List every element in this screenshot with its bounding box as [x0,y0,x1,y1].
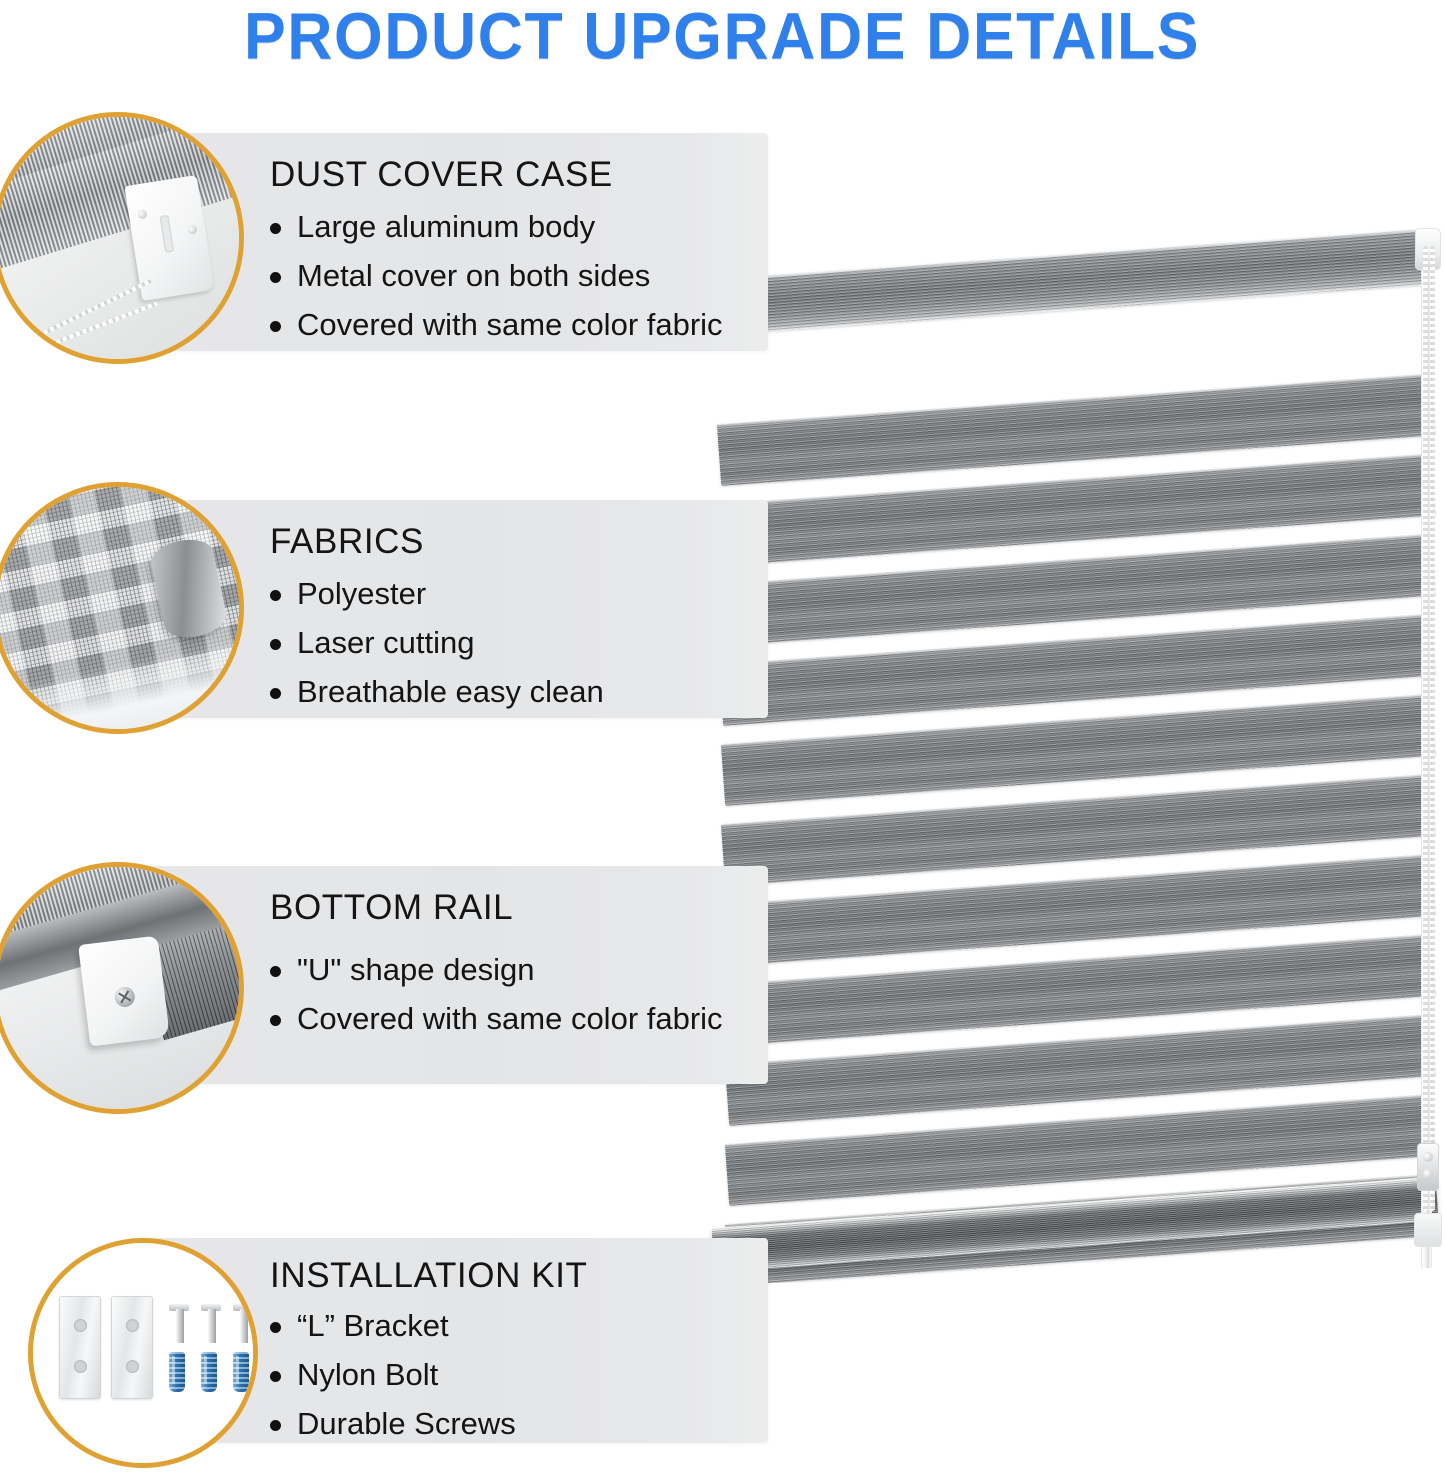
blind-headrail [699,229,1431,336]
section-heading: FABRICS [270,522,424,562]
list-item-label: Polyester [297,578,426,609]
wall-anchor-icon [169,1352,185,1392]
list-item-label: Nylon Bolt [297,1359,438,1390]
fabric-closeup-photo [0,487,239,729]
list-item: Breathable easy clean [270,676,604,707]
bullet-dot-icon [270,321,281,332]
list-item-label: Breathable easy clean [297,676,604,707]
bottom-rail-photo [0,867,239,1109]
blind-side-chain-rail [1413,228,1439,1268]
list-item-label: Laser cutting [297,627,475,658]
list-item: Durable Screws [270,1408,516,1439]
list-item: “L” Bracket [270,1310,516,1341]
section-bullets: “L” Bracket Nylon Bolt Durable Screws [270,1310,516,1457]
bullet-dot-icon [270,1420,281,1431]
section-bullets: "U" shape design Covered with same color… [270,954,723,1052]
bullet-dot-icon [270,1371,281,1382]
bullet-dot-icon [270,590,281,601]
wall-anchor-icon [201,1352,217,1392]
thumbnail-bottom-rail [0,862,244,1114]
l-bracket-icon [59,1296,101,1399]
blind-fabric-area [693,218,1445,1283]
list-item-label: Covered with same color fabric [297,1003,723,1034]
section-bullets: Polyester Laser cutting Breathable easy … [270,578,604,725]
list-item: Covered with same color fabric [270,309,723,340]
bullet-dot-icon [270,223,281,234]
section-heading: INSTALLATION KIT [270,1256,588,1296]
rail-end-cap [78,935,170,1046]
product-image-zebra-blind [693,218,1445,1283]
list-item-label: Metal cover on both sides [297,260,650,291]
bead-chain-strand [1430,246,1435,1211]
l-bracket-icon [111,1296,153,1399]
section-heading: DUST COVER CASE [270,155,613,195]
bullet-dot-icon [270,639,281,650]
page-title: PRODUCT UPGRADE DETAILS [0,0,1445,72]
page-title-text: PRODUCT UPGRADE DETAILS [244,0,1200,74]
list-item: Large aluminum body [270,211,723,242]
bullet-dot-icon [270,1322,281,1333]
list-item: Metal cover on both sides [270,260,723,291]
infographic-canvas: PRODUCT UPGRADE DETAILS [0,0,1445,1476]
screw-icon [114,985,136,1007]
list-item: Nylon Bolt [270,1359,516,1390]
bullet-dot-icon [270,688,281,699]
thumbnail-fabrics [0,482,244,734]
wall-anchor-icon [233,1352,249,1392]
bullet-dot-icon [270,966,281,977]
list-item: "U" shape design [270,954,723,985]
screw-icon [136,209,146,219]
section-bullets: Large aluminum body Metal cover on both … [270,211,723,358]
thumbnail-dust-cover-case [0,112,244,364]
list-item-label: Covered with same color fabric [297,309,723,340]
list-item: Polyester [270,578,604,609]
bullet-dot-icon [270,1015,281,1026]
screw-icon [176,1309,184,1343]
chain-connector [1417,1143,1439,1191]
list-item-label: Durable Screws [297,1408,516,1439]
screw-icon [208,1309,216,1343]
dust-cover-case-photo [0,117,239,359]
list-item-label: Large aluminum body [297,211,595,242]
kit-parts-group [59,1296,235,1397]
list-item: Laser cutting [270,627,604,658]
list-item-label: "U" shape design [297,954,534,985]
bullet-dot-icon [270,272,281,283]
section-heading: BOTTOM RAIL [270,888,513,928]
bottom-rail-end-cap [1414,1213,1442,1247]
bead-chain-strand [1423,246,1428,1211]
list-item-label: “L” Bracket [297,1310,449,1341]
thumbnail-installation-kit [28,1238,258,1468]
chain-slot [159,215,174,253]
screw-icon [240,1309,248,1343]
installation-kit-photo [33,1243,253,1463]
list-item: Covered with same color fabric [270,1003,723,1034]
screw-icon [187,224,197,234]
headrail-end-cap [1415,228,1441,270]
